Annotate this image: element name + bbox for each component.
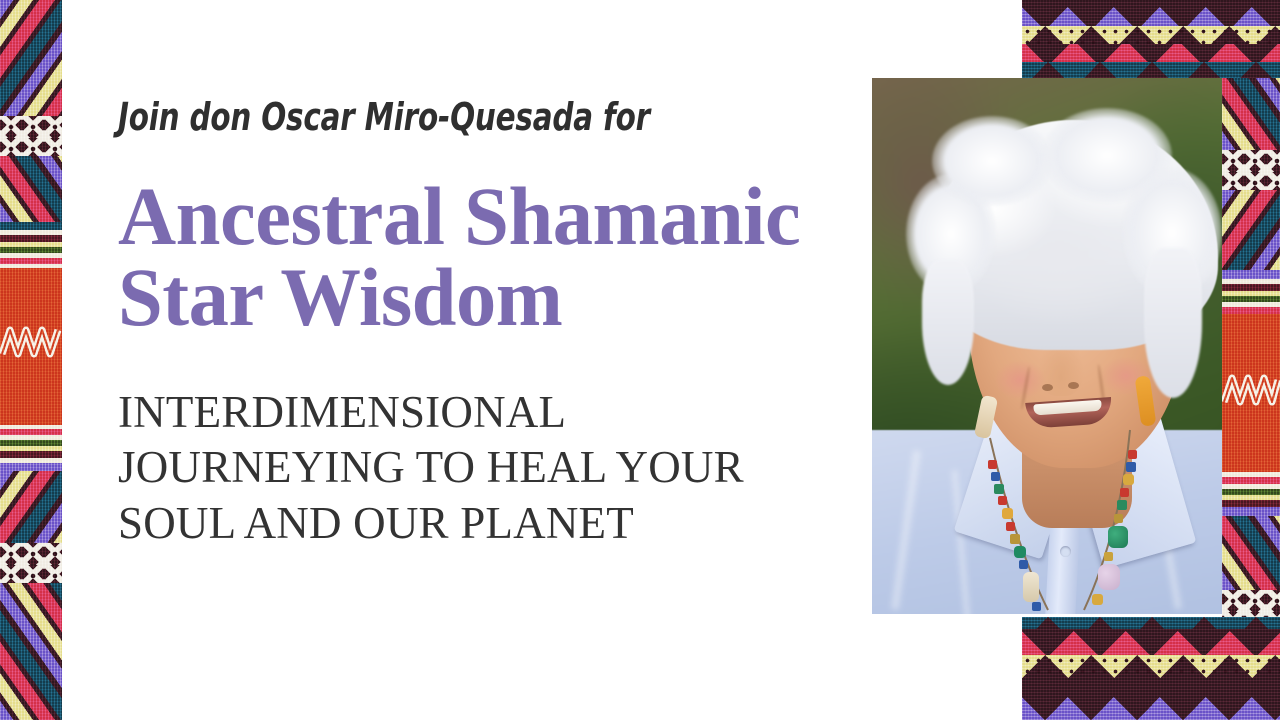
textile-stripe-stack-top: [0, 222, 62, 268]
zigzag-motif-icon: [0, 268, 62, 425]
textile-chevron-teal: [1022, 62, 1280, 78]
subtitle-line-3: SOUL AND OUR PLANET: [118, 496, 818, 551]
title-line-1: Ancestral Shamanic: [118, 176, 855, 257]
poster-canvas: Join don Oscar Miro-Quesada for Ancestra…: [0, 0, 1280, 720]
textile-zone-diagonal-2: [1222, 190, 1280, 270]
subtitle-line-2: JOURNEYING TO HEAL YOUR: [118, 440, 818, 495]
necklace-cord-icon: [872, 78, 1222, 614]
textile-diamond-band: [0, 116, 62, 156]
zigzag-motif-icon: [1222, 314, 1280, 472]
textile-stripe-stack-top: [1222, 270, 1280, 314]
textile-chevron-pink: [1022, 629, 1280, 657]
textile-chevron-cream: [1022, 655, 1280, 681]
textile-orange-block: [0, 268, 62, 425]
textile-zone-diagonal-3: [1222, 516, 1280, 590]
textile-zone-diagonal-3: [0, 471, 62, 543]
textile-chevron-purple: [1022, 679, 1280, 720]
textile-border-right: [1222, 0, 1280, 720]
portrait-photo: [872, 78, 1222, 614]
textile-zone-diagonal-2: [0, 156, 62, 222]
textile-zone-diagonal-upper: [0, 0, 62, 116]
textile-stripe-stack-bottom: [0, 425, 62, 471]
textile-diamond-band: [1222, 150, 1280, 190]
subtitle: INTERDIMENSIONAL JOURNEYING TO HEAL YOUR…: [118, 385, 818, 551]
textile-diamond-band-2: [0, 543, 62, 583]
text-content-block: Join don Oscar Miro-Quesada for Ancestra…: [118, 0, 858, 720]
textile-stripe-stack-bottom: [1222, 472, 1280, 516]
textile-border-left: [0, 0, 62, 720]
textile-border-top-right: [1022, 0, 1280, 78]
tagline: Join don Oscar Miro-Quesada for: [118, 95, 650, 139]
page-title: Ancestral Shamanic Star Wisdom: [118, 176, 878, 339]
subtitle-line-1: INTERDIMENSIONAL: [118, 385, 818, 440]
textile-zone-diagonal-lower: [0, 583, 62, 720]
textile-orange-block: [1222, 314, 1280, 472]
textile-border-bottom-right: [1022, 617, 1280, 720]
title-line-2: Star Wisdom: [118, 257, 855, 338]
